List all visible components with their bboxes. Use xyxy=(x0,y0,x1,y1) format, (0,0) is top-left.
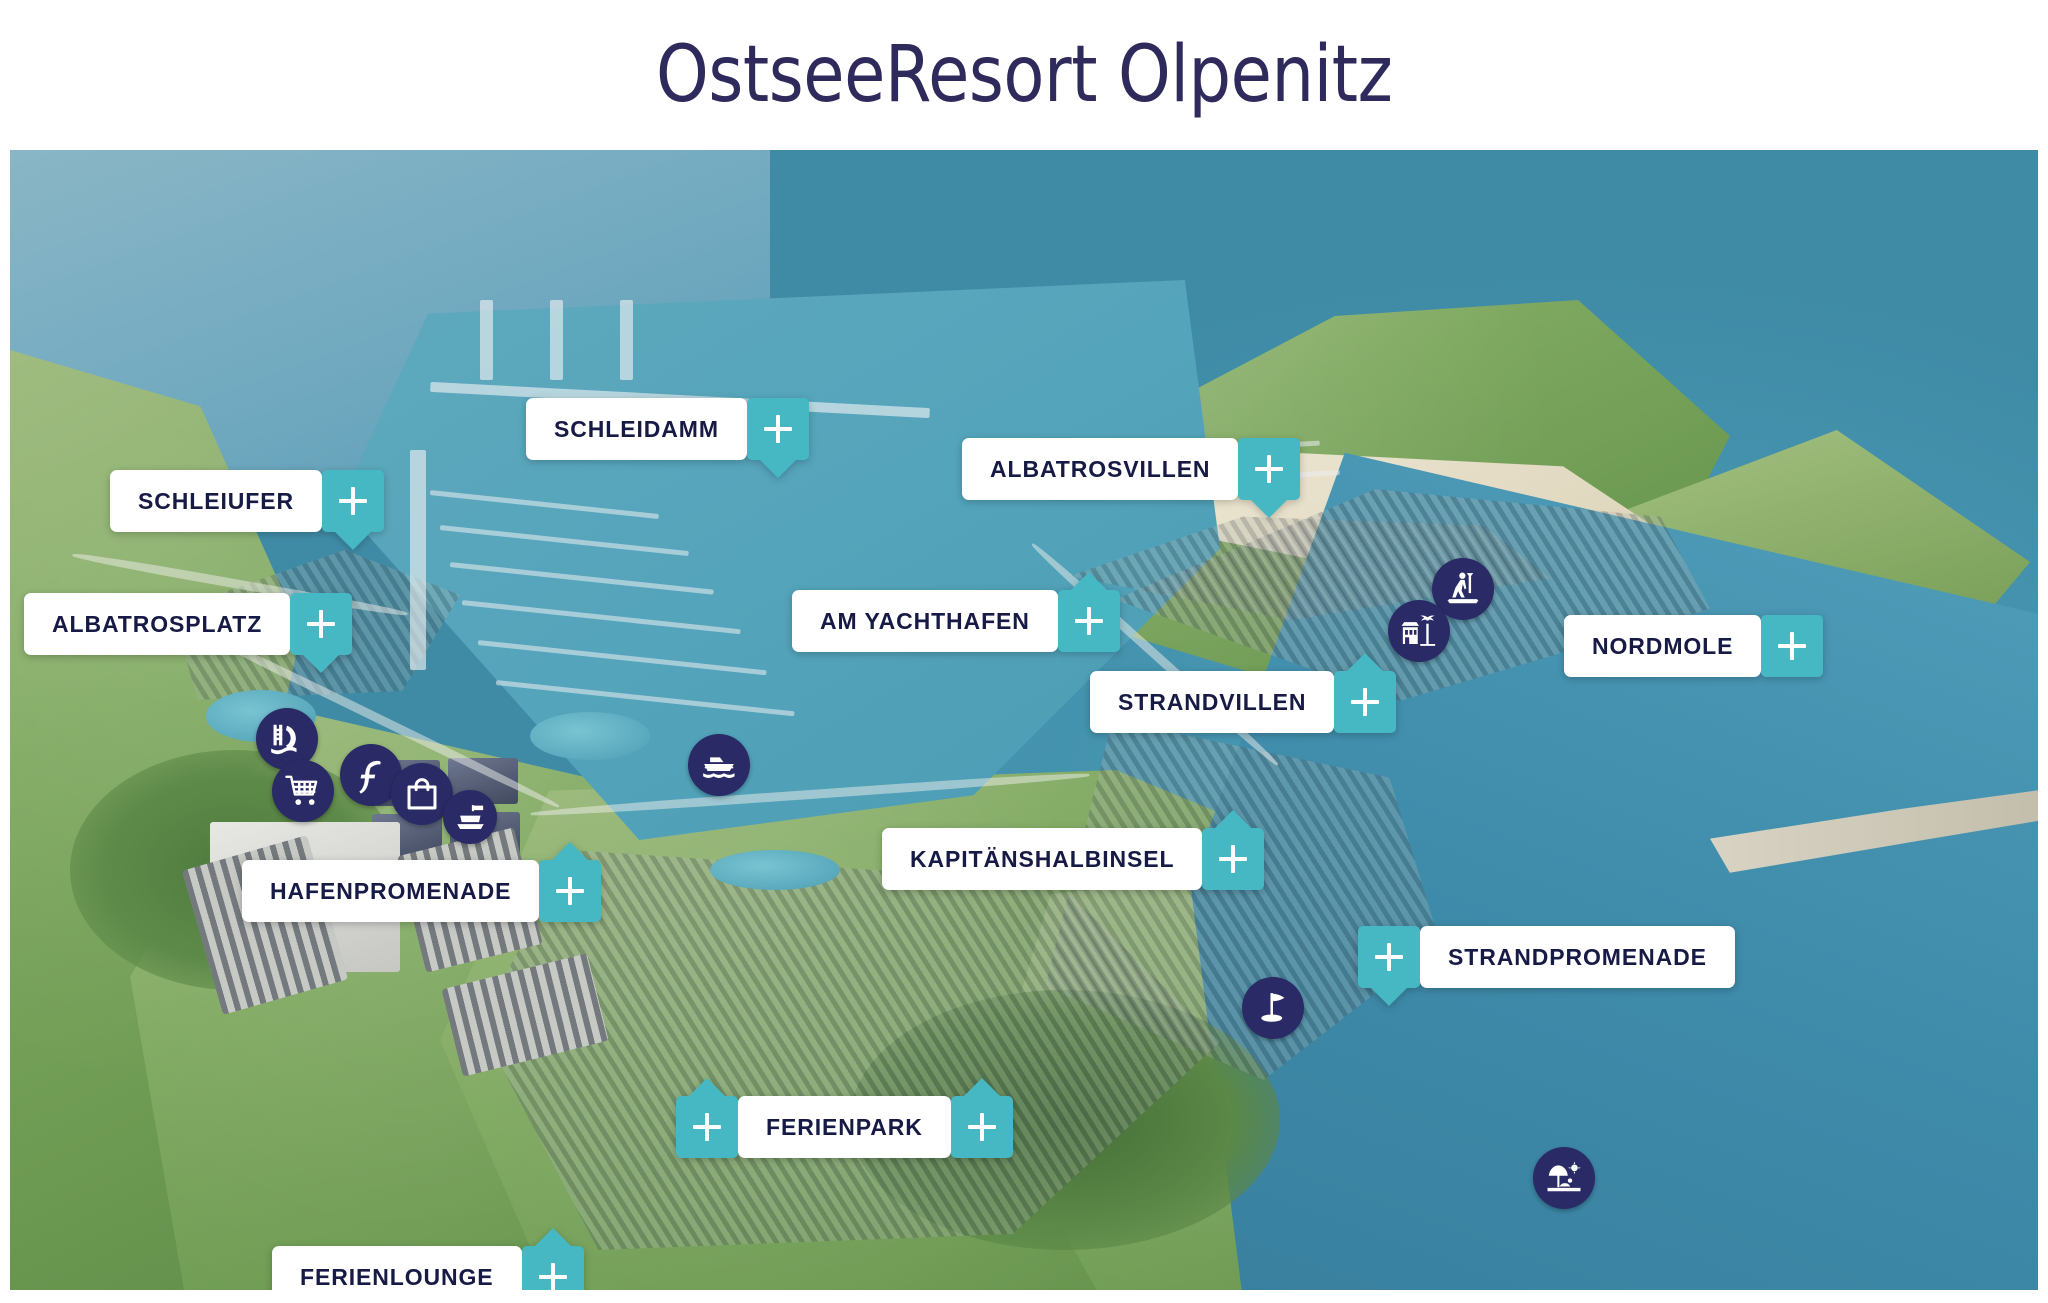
lagoon xyxy=(710,850,840,890)
resort-palm-icon[interactable] xyxy=(1388,600,1450,662)
ferry-boat-icon[interactable] xyxy=(443,790,497,844)
plus-icon[interactable] xyxy=(1238,438,1300,500)
plus-icon[interactable] xyxy=(322,470,384,532)
lagoon xyxy=(530,712,650,760)
resort-map[interactable]: SCHLEIDAMM ALBATROSVILLEN SCHLEIUFER ALB… xyxy=(10,150,2038,1290)
plus-icon[interactable] xyxy=(1202,828,1264,890)
shopping-cart-icon[interactable] xyxy=(272,760,334,822)
hotspot-label: ALBATROSVILLEN xyxy=(962,438,1238,500)
plus-icon[interactable] xyxy=(290,593,352,655)
hotspot-label: FERIENLOUNGE xyxy=(272,1246,522,1290)
plus-icon[interactable] xyxy=(747,398,809,460)
hotspot-nordmole[interactable]: NORDMOLE xyxy=(1564,615,1823,677)
hotspot-label: SCHLEIDAMM xyxy=(526,398,747,460)
hotspot-label: ALBATROSPLATZ xyxy=(24,593,290,655)
plus-icon[interactable] xyxy=(522,1246,584,1290)
pier xyxy=(410,450,426,670)
pier xyxy=(480,300,493,380)
hotspot-ferienpark[interactable]: FERIENPARK xyxy=(676,1096,1013,1158)
hotspot-hafenpromenade[interactable]: HAFENPROMENADE xyxy=(242,860,601,922)
page-title: OstseeResort Olpenitz xyxy=(656,30,1393,120)
pier xyxy=(550,300,563,380)
plus-icon[interactable] xyxy=(1761,615,1823,677)
plus-icon[interactable] xyxy=(1358,926,1420,988)
hotspot-label: FERIENPARK xyxy=(738,1096,951,1158)
hotspot-label: STRANDVILLEN xyxy=(1090,671,1334,733)
motor-yacht-icon[interactable] xyxy=(688,734,750,796)
hotspot-strandpromenade[interactable]: STRANDPROMENADE xyxy=(1358,926,1735,988)
hotspot-label: AM YACHTHAFEN xyxy=(792,590,1058,652)
hotspot-label: SCHLEIUFER xyxy=(110,470,322,532)
hotspot-label: NORDMOLE xyxy=(1564,615,1761,677)
plus-icon[interactable] xyxy=(1334,671,1396,733)
hotspot-albatrosvillen[interactable]: ALBATROSVILLEN xyxy=(962,438,1300,500)
golf-flag-icon[interactable] xyxy=(1242,977,1304,1039)
beach-umbrella-icon[interactable] xyxy=(1533,1147,1595,1209)
pier xyxy=(620,300,633,380)
resort-map-page: OstseeResort Olpenitz xyxy=(0,0,2048,1303)
hotspot-schleidamm[interactable]: SCHLEIDAMM xyxy=(526,398,809,460)
page-header: OstseeResort Olpenitz xyxy=(0,0,2048,150)
hotspot-albatrosplatz[interactable]: ALBATROSPLATZ xyxy=(24,593,352,655)
hotspot-ferienlounge[interactable]: FERIENLOUNGE xyxy=(272,1246,584,1290)
hotspot-schleiufer[interactable]: SCHLEIUFER xyxy=(110,470,384,532)
hotspot-label: STRANDPROMENADE xyxy=(1420,926,1735,988)
plus-icon-right[interactable] xyxy=(951,1096,1013,1158)
plus-icon[interactable] xyxy=(1058,590,1120,652)
plus-icon[interactable] xyxy=(539,860,601,922)
hotspot-strandvillen[interactable]: STRANDVILLEN xyxy=(1090,671,1396,733)
plus-icon-left[interactable] xyxy=(676,1096,738,1158)
hotspot-am-yachthafen[interactable]: AM YACHTHAFEN xyxy=(792,590,1120,652)
map-background-art xyxy=(10,150,2038,1290)
hotspot-kapitaenshalbinsel[interactable]: KAPITÄNSHALBINSEL xyxy=(882,828,1264,890)
hotspot-label: KAPITÄNSHALBINSEL xyxy=(882,828,1202,890)
hotspot-label: HAFENPROMENADE xyxy=(242,860,539,922)
